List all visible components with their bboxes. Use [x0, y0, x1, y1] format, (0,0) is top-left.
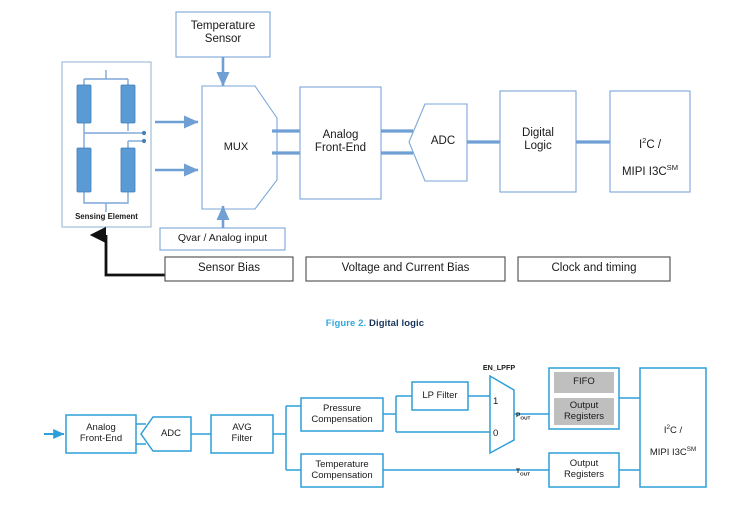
block-qvar-analog-input	[160, 228, 285, 250]
block-fifo	[554, 372, 614, 393]
block-output-registers-temperature	[549, 453, 619, 487]
block-sensor-bias	[165, 257, 293, 281]
figure-caption: Figure 2. Digital logic	[0, 318, 750, 329]
block-temperature-sensor	[176, 12, 270, 57]
block-mux	[202, 86, 277, 209]
block-voltage-current-bias	[306, 257, 505, 281]
block-adc-top	[409, 104, 467, 181]
block-temperature-compensation	[301, 454, 383, 487]
block-interface-i2c-mipi-bottom	[640, 368, 706, 487]
block-lp-filter	[412, 382, 468, 410]
block-adc-bottom	[141, 417, 191, 451]
bridge-node-top	[142, 131, 146, 135]
block-interface-i2c-mipi-top	[610, 91, 690, 192]
arrow-sensor-bias-to-sensing-element	[106, 235, 165, 275]
bus-avg-split	[273, 406, 301, 470]
figure-caption-title: Digital logic	[369, 318, 424, 329]
bridge-node-bottom	[142, 139, 146, 143]
figure-caption-number: Figure 2.	[326, 318, 367, 329]
block-output-registers-pressure	[554, 398, 614, 425]
block-output-mux	[490, 376, 514, 453]
bottom-diagram-group	[44, 368, 706, 487]
top-diagram-group	[62, 12, 690, 281]
block-pressure-compensation	[301, 398, 383, 431]
block-analog-front-end-bottom	[66, 415, 136, 453]
figure-canvas: Figure 2. Digital logic Temperature Sens…	[0, 0, 750, 507]
block-clock-and-timing	[518, 257, 670, 281]
block-avg-filter	[211, 415, 273, 453]
block-sensing-element	[62, 62, 151, 227]
diagram-vector-layer	[0, 0, 750, 507]
block-digital-logic	[500, 91, 576, 192]
block-analog-front-end-top	[300, 87, 381, 199]
